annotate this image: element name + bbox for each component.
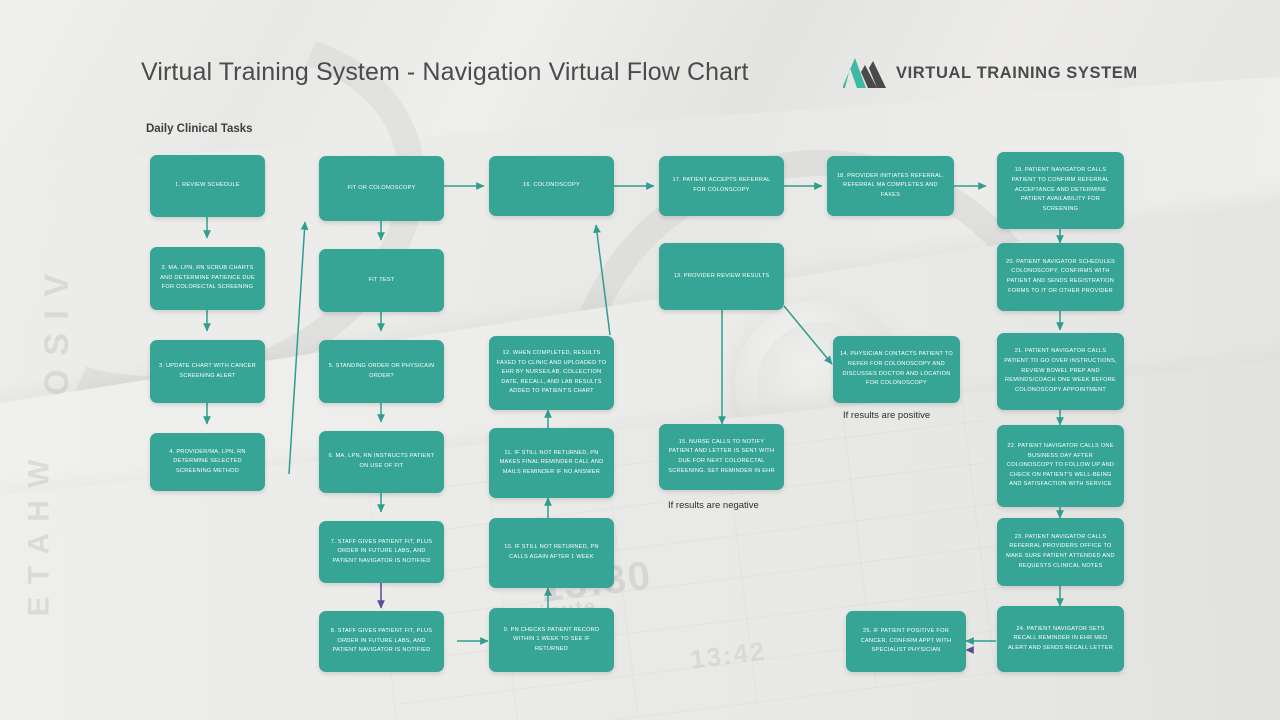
- flow-node-21[interactable]: 21. PATIENT NAVIGATOR CALLS PATIENT TO G…: [997, 333, 1124, 410]
- flow-node-fit-or-colonoscopy[interactable]: FIT OR COLONOSCOPY: [319, 156, 444, 221]
- flow-node-22[interactable]: 22. PATIENT NAVIGATOR CALLS ONE BUSINESS…: [997, 425, 1124, 507]
- section-label: Daily Clinical Tasks: [146, 123, 253, 135]
- flow-node-1[interactable]: 1. REVIEW SCHEDULE: [150, 155, 265, 217]
- flow-node-14[interactable]: 14. PHYSICIAN CONTACTS PATIENT TO REFER …: [833, 336, 960, 403]
- flow-node-10-label: 10. IF STILL NOT RETURNED, PN CALLS AGAI…: [496, 543, 607, 562]
- flow-node-20[interactable]: 20. PATIENT NAVIGATOR SCHEDULES COLONOSC…: [997, 243, 1124, 311]
- flow-node-6-label: 6. MA, LPN, RN INSTRUCTS PATIENT ON USE …: [326, 452, 437, 471]
- flow-node-fit-or-colonoscopy-label: FIT OR COLONOSCOPY: [347, 184, 415, 194]
- page-title: Virtual Training System - Navigation Vir…: [141, 58, 749, 87]
- flow-node-19[interactable]: 19. PATIENT NAVIGATOR CALLS PATIENT TO C…: [997, 152, 1124, 229]
- flow-node-17[interactable]: 17. PATIENT ACCEPTS REFERRAL FOR COLONSC…: [659, 156, 784, 216]
- flow-node-15[interactable]: 15. NURSE CALLS TO NOTIFY PATIENT AND LE…: [659, 424, 784, 490]
- flow-node-16-label: 16. COLONOSCOPY: [523, 181, 580, 191]
- flow-node-18-label: 18. PROVIDER INITIATES REFERRAL. REFERRA…: [834, 172, 947, 201]
- flow-node-13[interactable]: 13. PROVIDER REVIEW RESULTS: [659, 243, 784, 310]
- flow-node-10[interactable]: 10. IF STILL NOT RETURNED, PN CALLS AGAI…: [489, 518, 614, 588]
- flow-node-20-label: 20. PATIENT NAVIGATOR SCHEDULES COLONOSC…: [1004, 258, 1117, 296]
- flow-node-25-label: 25. IF PATIENT POSITIVE FOR CANCER, CONF…: [853, 627, 959, 656]
- flow-node-5-label: 5. STANDING ORDER OR PHYSICAIN ORDER?: [326, 362, 437, 381]
- flow-node-24-label: 24. PATIENT NAVIGATOR SETS RECALL REMIND…: [1004, 625, 1117, 654]
- caption-if-results-positive: If results are positive: [843, 410, 930, 421]
- flow-node-7-label: 7. STAFF GIVES PATIENT FIT, PLUS ORDER I…: [326, 538, 437, 567]
- flow-node-19-label: 19. PATIENT NAVIGATOR CALLS PATIENT TO C…: [1004, 166, 1117, 214]
- flow-node-14-label: 14. PHYSICIAN CONTACTS PATIENT TO REFER …: [840, 350, 953, 388]
- flow-node-21-label: 21. PATIENT NAVIGATOR CALLS PATIENT TO G…: [1004, 347, 1117, 395]
- flow-node-24[interactable]: 24. PATIENT NAVIGATOR SETS RECALL REMIND…: [997, 606, 1124, 672]
- flow-node-fit-test[interactable]: FIT TEST: [319, 249, 444, 312]
- flow-node-8[interactable]: 8. STAFF GIVES PATIENT FIT, PLUS ORDER I…: [319, 611, 444, 672]
- flow-node-9[interactable]: 9. PN CHECKS PATIENT RECORD WITHIN 1 WEE…: [489, 608, 614, 672]
- flow-node-23-label: 23. PATIENT NAVIGATOR CALLS REFERRAL PRO…: [1004, 533, 1117, 571]
- flow-node-2[interactable]: 2. MA, LPN, RN SCRUB CHARTS AND DETERMIN…: [150, 247, 265, 310]
- flow-node-16[interactable]: 16. COLONOSCOPY: [489, 156, 614, 216]
- flow-node-25[interactable]: 25. IF PATIENT POSITIVE FOR CANCER, CONF…: [846, 611, 966, 672]
- flow-node-7[interactable]: 7. STAFF GIVES PATIENT FIT, PLUS ORDER I…: [319, 521, 444, 583]
- flow-node-15-label: 15. NURSE CALLS TO NOTIFY PATIENT AND LE…: [666, 438, 777, 476]
- flow-node-5[interactable]: 5. STANDING ORDER OR PHYSICAIN ORDER?: [319, 340, 444, 403]
- flow-node-11[interactable]: 11. IF STILL NOT RETURNED, PN MAKES FINA…: [489, 428, 614, 498]
- brand-logo-text: VIRTUAL TRAINING SYSTEM: [896, 64, 1138, 83]
- flow-node-fit-test-label: FIT TEST: [368, 276, 394, 286]
- flow-node-3[interactable]: 3. UPDATE CHART WITH CANCER SCREENING AL…: [150, 340, 265, 403]
- flow-node-8-label: 8. STAFF GIVES PATIENT FIT, PLUS ORDER I…: [326, 627, 437, 656]
- flow-node-1-label: 1. REVIEW SCHEDULE: [175, 181, 240, 191]
- flow-node-4-label: 4. PROVIDER/MA, LPN, RN DETERMINE SELECT…: [157, 448, 258, 477]
- flow-node-11-label: 11. IF STILL NOT RETURNED, PN MAKES FINA…: [496, 449, 607, 478]
- flow-node-12[interactable]: 12. WHEN COMPLETED, RESULTS FAXED TO CLI…: [489, 336, 614, 410]
- flow-node-9-label: 9. PN CHECKS PATIENT RECORD WITHIN 1 WEE…: [496, 626, 607, 655]
- flow-node-2-label: 2. MA, LPN, RN SCRUB CHARTS AND DETERMIN…: [157, 264, 258, 293]
- caption-if-results-negative: If results are negative: [668, 500, 759, 511]
- flow-node-3-label: 3. UPDATE CHART WITH CANCER SCREENING AL…: [157, 362, 258, 381]
- brand-logo: VIRTUAL TRAINING SYSTEM: [843, 56, 1138, 90]
- flow-node-18[interactable]: 18. PROVIDER INITIATES REFERRAL. REFERRA…: [827, 156, 954, 216]
- vts-mountain-logo-icon: [843, 56, 887, 90]
- flow-node-13-label: 13. PROVIDER REVIEW RESULTS: [674, 272, 770, 282]
- flow-node-22-label: 22. PATIENT NAVIGATOR CALLS ONE BUSINESS…: [1004, 442, 1117, 490]
- flow-node-6[interactable]: 6. MA, LPN, RN INSTRUCTS PATIENT ON USE …: [319, 431, 444, 493]
- flow-node-17-label: 17. PATIENT ACCEPTS REFERRAL FOR COLONSC…: [666, 176, 777, 195]
- flow-node-23[interactable]: 23. PATIENT NAVIGATOR CALLS REFERRAL PRO…: [997, 518, 1124, 586]
- flow-node-12-label: 12. WHEN COMPLETED, RESULTS FAXED TO CLI…: [496, 349, 607, 397]
- flow-node-4[interactable]: 4. PROVIDER/MA, LPN, RN DETERMINE SELECT…: [150, 433, 265, 491]
